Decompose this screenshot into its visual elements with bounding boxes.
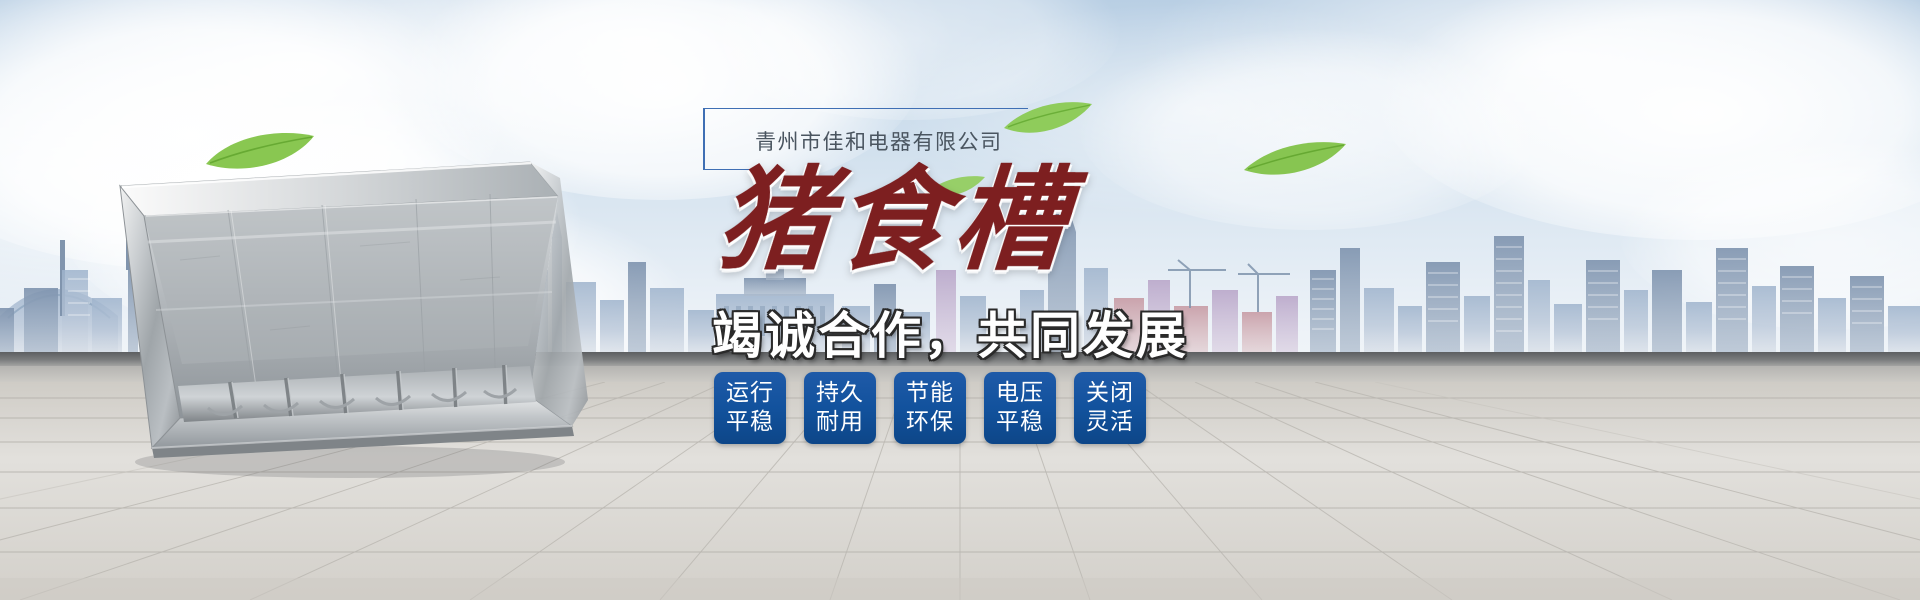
badge-line-2: 平稳 xyxy=(726,408,774,437)
leaf-decoration-icon xyxy=(200,130,320,176)
feature-badge-list: 运行 平稳 持久 耐用 节能 环保 电压 平稳 关闭 灵活 xyxy=(714,372,1146,444)
feature-badge[interactable]: 运行 平稳 xyxy=(714,372,786,444)
badge-line-1: 电压 xyxy=(996,379,1044,408)
badge-line-1: 持久 xyxy=(816,379,864,408)
banner-text-block: 青州市佳和电器有限公司 猪食槽 竭诚合作，共同发展 运行 平稳 持久 耐用 节能… xyxy=(700,100,1320,560)
badge-line-2: 灵活 xyxy=(1086,408,1134,437)
badge-line-1: 运行 xyxy=(726,379,774,408)
product-image-feeder-trough xyxy=(60,150,620,480)
company-name: 青州市佳和电器有限公司 xyxy=(755,126,1003,156)
feature-badge[interactable]: 节能 环保 xyxy=(894,372,966,444)
badge-line-2: 平稳 xyxy=(996,408,1044,437)
badge-line-2: 耐用 xyxy=(816,408,864,437)
badge-line-1: 关闭 xyxy=(1086,379,1134,408)
badge-line-2: 环保 xyxy=(906,408,954,437)
badge-line-1: 节能 xyxy=(906,379,954,408)
sub-headline: 竭诚合作，共同发展 xyxy=(712,296,1189,368)
headline-title: 猪食槽 xyxy=(714,162,1076,280)
feature-badge[interactable]: 电压 平稳 xyxy=(984,372,1056,444)
feature-badge[interactable]: 持久 耐用 xyxy=(804,372,876,444)
feature-badge[interactable]: 关闭 灵活 xyxy=(1074,372,1146,444)
promo-banner: 青州市佳和电器有限公司 猪食槽 竭诚合作，共同发展 运行 平稳 持久 耐用 节能… xyxy=(0,0,1920,600)
